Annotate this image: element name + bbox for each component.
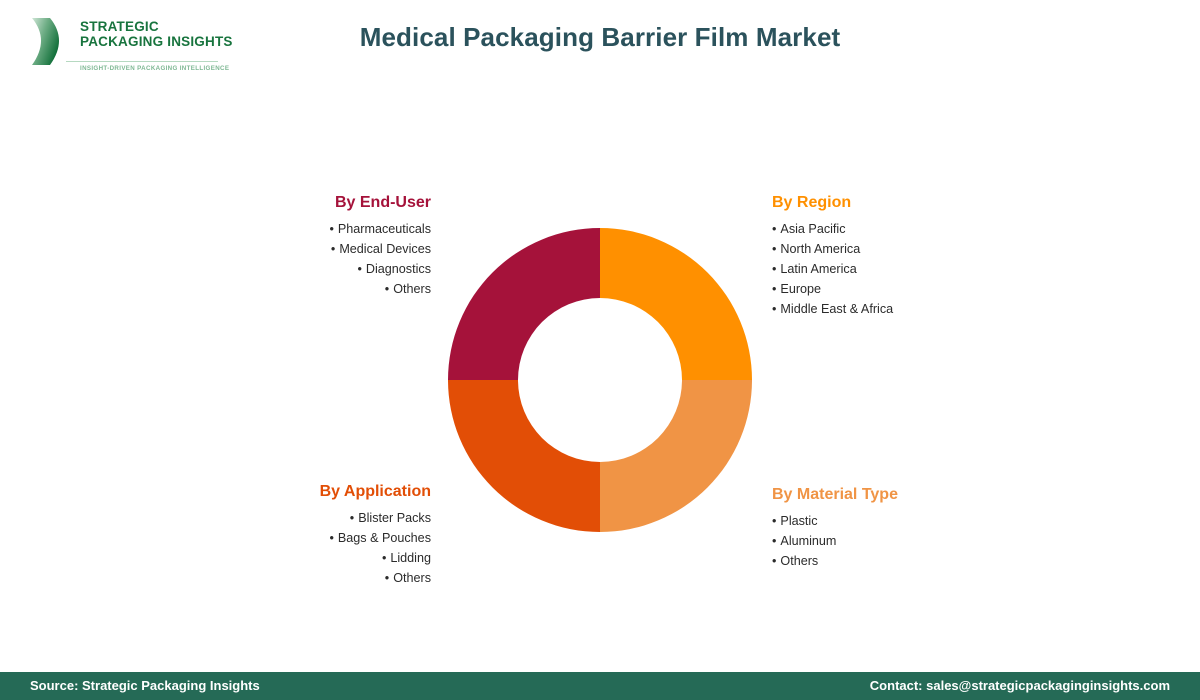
list-item-label: Diagnostics [366,262,431,276]
list-item-label: Blister Packs [358,511,431,525]
bullet-icon: • [772,534,776,548]
list-item-label: Others [393,571,431,585]
donut-slice-end-user [448,228,600,380]
bullet-icon: • [385,282,389,296]
segment-end-user-list: •Pharmaceuticals •Medical Devices •Diagn… [181,219,431,299]
bullet-icon: • [329,531,333,545]
list-item: •Lidding [181,548,431,568]
footer-bar: Source: Strategic Packaging Insights Con… [0,672,1200,700]
list-item: •Asia Pacific [772,219,1072,239]
bullet-icon: • [385,571,389,585]
bullet-icon: • [772,242,776,256]
bullet-icon: • [772,282,776,296]
segment-end-user: By End-User •Pharmaceuticals •Medical De… [181,193,431,299]
donut-slice-application [448,380,600,532]
segment-material-type: By Material Type •Plastic •Aluminum •Oth… [772,485,1072,571]
list-item: •North America [772,239,1072,259]
bullet-icon: • [772,222,776,236]
list-item: •Plastic [772,511,1072,531]
segment-application-list: •Blister Packs •Bags & Pouches •Lidding … [181,508,431,588]
bullet-icon: • [772,302,776,316]
segment-end-user-title: By End-User [181,193,431,213]
list-item: •Others [181,279,431,299]
list-item-label: Plastic [780,514,817,528]
list-item-label: Others [780,554,818,568]
segment-material-type-title: By Material Type [772,485,1072,505]
bullet-icon: • [382,551,386,565]
bullet-icon: • [772,262,776,276]
list-item-label: North America [780,242,860,256]
list-item-label: Lidding [390,551,431,565]
donut-slice-region [600,228,752,380]
list-item-label: Medical Devices [339,242,431,256]
list-item-label: Middle East & Africa [780,302,893,316]
list-item: •Others [772,551,1072,571]
list-item: •Middle East & Africa [772,299,1072,319]
list-item: •Diagnostics [181,259,431,279]
list-item-label: Others [393,282,431,296]
list-item: •Blister Packs [181,508,431,528]
donut-chart [448,228,752,532]
list-item-label: Pharmaceuticals [338,222,431,236]
bullet-icon: • [357,262,361,276]
bullet-icon: • [329,222,333,236]
segment-region-title: By Region [772,193,1072,213]
segment-region-list: •Asia Pacific •North America •Latin Amer… [772,219,1072,319]
segment-application-title: By Application [181,482,431,502]
list-item-label: Aluminum [780,534,836,548]
footer-source: Source: Strategic Packaging Insights [30,672,260,700]
logo-divider [66,61,218,62]
list-item: •Bags & Pouches [181,528,431,548]
logo-tagline: INSIGHT-DRIVEN PACKAGING INTELLIGENCE [80,65,229,72]
segment-material-type-list: •Plastic •Aluminum •Others [772,511,1072,571]
bullet-icon: • [331,242,335,256]
list-item: •Medical Devices [181,239,431,259]
list-item: •Aluminum [772,531,1072,551]
segment-application: By Application •Blister Packs •Bags & Po… [181,482,431,588]
footer-contact: Contact: sales@strategicpackaginginsight… [870,672,1170,700]
list-item-label: Latin America [780,262,856,276]
header: STRATEGIC PACKAGING INSIGHTS INSIGHT-DRI… [0,0,1200,90]
list-item: •Others [181,568,431,588]
page-title: Medical Packaging Barrier Film Market [0,22,1200,53]
donut-slice-material-type [600,380,752,532]
bullet-icon: • [350,511,354,525]
list-item-label: Europe [780,282,821,296]
segment-region: By Region •Asia Pacific •North America •… [772,193,1072,319]
list-item: •Europe [772,279,1072,299]
bullet-icon: • [772,554,776,568]
list-item: •Pharmaceuticals [181,219,431,239]
list-item-label: Asia Pacific [780,222,845,236]
list-item-label: Bags & Pouches [338,531,431,545]
list-item: •Latin America [772,259,1072,279]
bullet-icon: • [772,514,776,528]
